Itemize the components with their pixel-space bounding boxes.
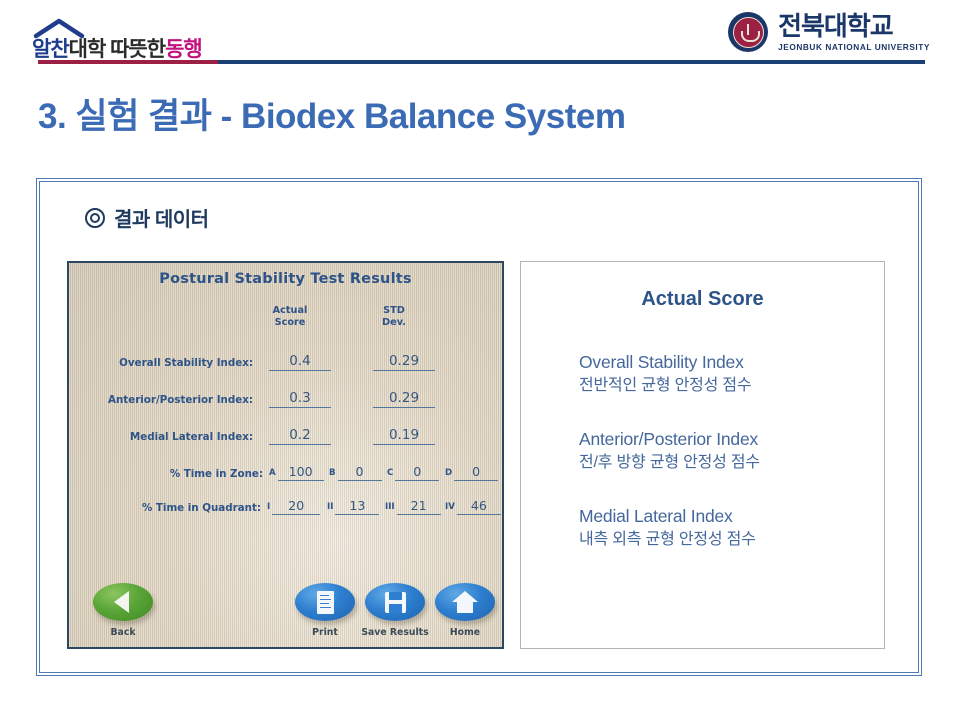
- list-item: Medial Lateral Index 내측 외측 균형 안정성 점수: [579, 505, 884, 551]
- back-button[interactable]: [93, 583, 153, 621]
- university-name-ko: 전북대학교: [778, 13, 930, 39]
- home-button[interactable]: [435, 583, 495, 621]
- slide: 알찬대학 따뜻한동행 전북대학교 JEONBUK NATIONAL UNIVER…: [0, 0, 960, 720]
- biodex-screen-title: Postural Stability Test Results: [69, 271, 502, 287]
- time-in-zone-row: % Time in Zone: A 100 B 0 C 0: [79, 464, 503, 488]
- content-box: 결과 데이터 Postural Stability Test Results A…: [36, 178, 922, 676]
- row-label: Overall Stability Index:: [119, 357, 253, 369]
- legend-item-ko: 전/후 방향 균형 안정성 점수: [579, 452, 884, 474]
- quadrant-key: II: [327, 502, 335, 515]
- save-results-button[interactable]: [365, 583, 425, 621]
- zone-value: 100: [278, 464, 324, 481]
- row-actual-value: 0.4: [269, 353, 331, 371]
- logo-text-part2: 대학 따뜻한: [69, 38, 165, 61]
- university-logo: 전북대학교 JEONBUK NATIONAL UNIVERSITY: [728, 12, 930, 52]
- header-rule-navy: [218, 60, 925, 64]
- legend-title: Actual Score: [521, 288, 884, 311]
- zone-value: 0: [395, 464, 439, 481]
- biodex-button-bar: Back Print Save Results Home: [69, 563, 502, 641]
- row-label: Medial Lateral Index:: [130, 431, 253, 443]
- row-std-value: 0.29: [373, 353, 435, 371]
- time-in-quadrant-row: % Time in Quadrant: I 20 II 13 III 21: [79, 498, 503, 522]
- column-header-actual-score: Actual Score: [255, 305, 325, 330]
- row-std-value: 0.29: [373, 390, 435, 408]
- row-actual-value: 0.2: [269, 427, 331, 445]
- double-circle-bullet-icon: [85, 208, 105, 228]
- legend-item-en: Anterior/Posterior Index: [579, 428, 884, 452]
- left-triangle-icon: [114, 591, 129, 613]
- column-header-actual-line1: Actual: [255, 305, 325, 317]
- time-in-zone-label: % Time in Zone:: [79, 464, 263, 480]
- zone-value: 0: [454, 464, 498, 481]
- house-roof-icon: 알찬대학 따뜻한동행: [32, 16, 86, 60]
- legend-item-en: Overall Stability Index: [579, 351, 884, 375]
- column-header-actual-line2: Score: [255, 317, 325, 329]
- list-item: Anterior/Posterior Index 전/후 방향 균형 안정성 점…: [579, 428, 884, 474]
- row-label: Anterior/Posterior Index:: [108, 394, 253, 406]
- column-header-std-dev: STD Dev.: [359, 305, 429, 330]
- zone-key: B: [329, 468, 338, 481]
- zone-key: C: [387, 468, 395, 481]
- time-in-quadrant-label: % Time in Quadrant:: [79, 498, 261, 514]
- zone-value: 0: [338, 464, 382, 481]
- section-heading: 결과 데이터: [85, 203, 209, 232]
- section-heading-label: 결과 데이터: [114, 203, 209, 232]
- logo-text-part3: 동행: [165, 38, 202, 61]
- floppy-disk-icon: [385, 592, 406, 613]
- quadrant-value: 13: [335, 498, 379, 515]
- legend-item-list: Overall Stability Index 전반적인 균형 안정성 점수 A…: [521, 351, 884, 551]
- page-title: 3. 실험 결과 - Biodex Balance System: [38, 88, 625, 139]
- quadrant-key: IV: [445, 502, 457, 515]
- table-row: Overall Stability Index: 0.4 0.29: [79, 353, 497, 379]
- quadrant-value: 20: [272, 498, 320, 515]
- quadrant-key: III: [385, 502, 397, 515]
- legend-item-ko: 내측 외측 균형 안정성 점수: [579, 529, 884, 551]
- header-rule-maroon: [38, 60, 218, 64]
- print-button[interactable]: [295, 583, 355, 621]
- table-row: Medial Lateral Index: 0.2 0.19: [79, 427, 497, 453]
- row-actual-value: 0.3: [269, 390, 331, 408]
- legend-panel: Actual Score Overall Stability Index 전반적…: [520, 261, 885, 649]
- home-button-caption: Home: [420, 627, 504, 638]
- legend-item-en: Medial Lateral Index: [579, 505, 884, 529]
- quadrant-value: 21: [397, 498, 441, 515]
- document-icon: [317, 591, 334, 614]
- university-name-en: JEONBUK NATIONAL UNIVERSITY: [778, 43, 930, 51]
- program-logo: 알찬대학 따뜻한동행: [32, 16, 86, 60]
- biodex-result-screenshot: Postural Stability Test Results Actual S…: [67, 261, 504, 649]
- row-std-value: 0.19: [373, 427, 435, 445]
- logo-text-part1: 알찬: [32, 38, 69, 61]
- back-button-caption: Back: [78, 627, 168, 638]
- zone-key: A: [269, 468, 278, 481]
- list-item: Overall Stability Index 전반적인 균형 안정성 점수: [579, 351, 884, 397]
- column-header-std-line2: Dev.: [359, 317, 429, 329]
- zone-key: D: [445, 468, 454, 481]
- table-row: Anterior/Posterior Index: 0.3 0.29: [79, 390, 497, 416]
- quadrant-value: 46: [457, 498, 501, 515]
- university-emblem-icon: [728, 12, 768, 52]
- house-icon: [452, 591, 478, 613]
- legend-item-ko: 전반적인 균형 안정성 점수: [579, 375, 884, 397]
- column-header-std-line1: STD: [359, 305, 429, 317]
